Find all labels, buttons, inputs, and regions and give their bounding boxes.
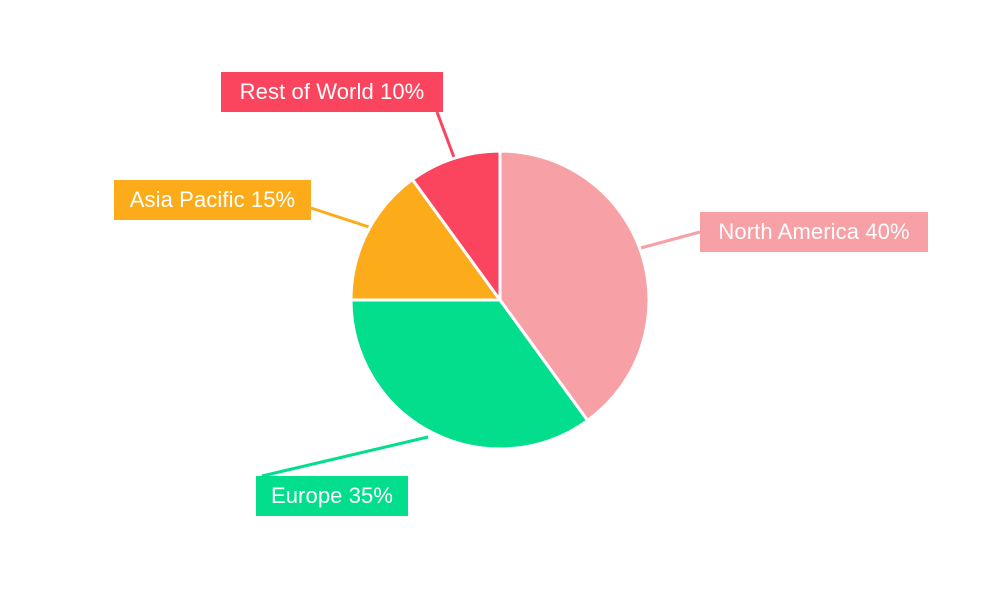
pie-label-europe[interactable]: Europe 35% bbox=[256, 476, 408, 516]
pie-chart-canvas bbox=[0, 0, 1000, 600]
leader-line-north-america bbox=[637, 232, 700, 249]
leader-line-rest-of-world bbox=[437, 112, 455, 160]
pie-slices-group bbox=[351, 151, 649, 449]
leader-line-asia-pacific bbox=[311, 208, 372, 228]
pie-chart-figure: North America 40%Europe 35%Asia Pacific … bbox=[0, 0, 1000, 600]
pie-label-rest-of-world[interactable]: Rest of World 10% bbox=[221, 72, 443, 112]
pie-label-asia-pacific[interactable]: Asia Pacific 15% bbox=[114, 180, 311, 220]
leader-line-europe bbox=[262, 437, 428, 476]
pie-label-north-america[interactable]: North America 40% bbox=[700, 212, 928, 252]
